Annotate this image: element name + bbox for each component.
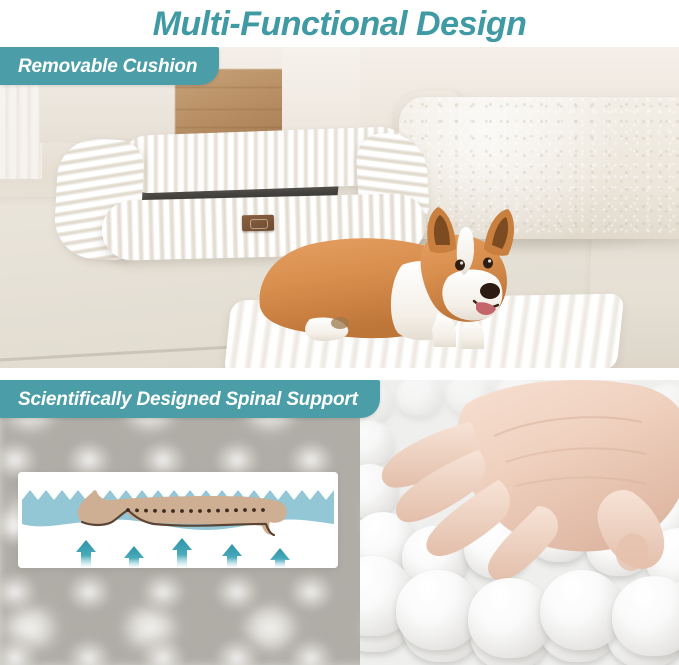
room-scene-photo xyxy=(0,47,679,368)
hand-pressing-foam xyxy=(374,380,679,584)
panel-removable-cushion: Removable Cushion xyxy=(0,47,679,368)
infographic-page: Multi-Functional Design xyxy=(0,0,679,659)
spinal-support-diagram xyxy=(18,472,338,568)
page-title: Multi-Functional Design xyxy=(153,7,527,41)
foam-scene-photo xyxy=(0,380,679,665)
panel-spinal-support: Scientifically Designed Spinal Support xyxy=(0,380,679,665)
badge-removable-cushion: Removable Cushion xyxy=(0,47,219,85)
page-header: Multi-Functional Design xyxy=(0,0,679,47)
corgi-dog xyxy=(252,195,542,360)
badge-spinal-support: Scientifically Designed Spinal Support xyxy=(0,380,380,418)
eggcrate-foam-closeup xyxy=(360,380,679,665)
badge-removable-cushion-label: Removable Cushion xyxy=(18,57,197,76)
badge-spinal-support-label: Scientifically Designed Spinal Support xyxy=(18,390,358,409)
panel-divider xyxy=(0,368,679,374)
